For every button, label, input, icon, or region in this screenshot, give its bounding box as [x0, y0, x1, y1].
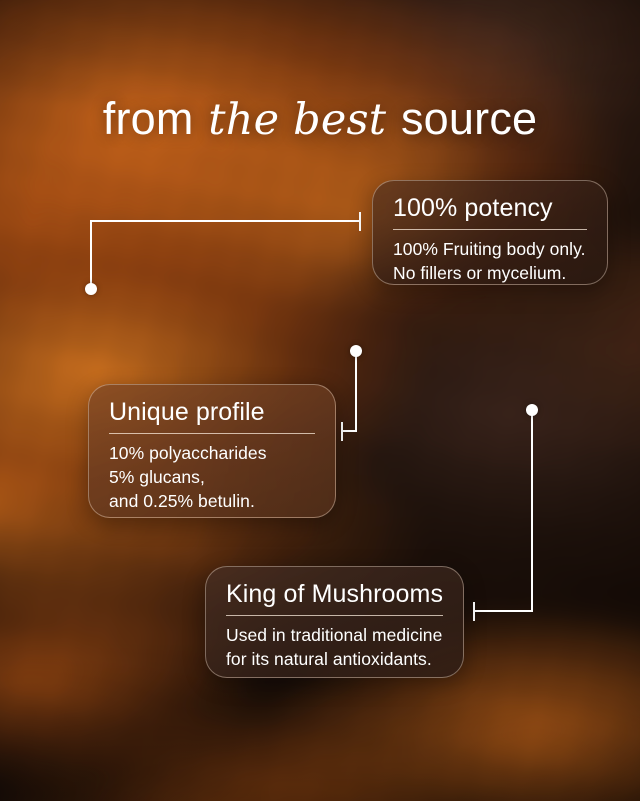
connector-vertical-segment: [355, 356, 357, 432]
connector-horizontal-segment: [90, 220, 360, 222]
card-divider: [393, 229, 587, 230]
connector-endpoint-dot: [85, 283, 97, 295]
info-card-potency: 100% potency 100% Fruiting body only. No…: [372, 180, 608, 285]
info-card-line: and 0.25% betulin.: [109, 490, 315, 514]
heading-part-before: from: [103, 93, 207, 144]
connector-horizontal-segment: [341, 430, 357, 432]
info-card-line: 5% glucans,: [109, 466, 315, 490]
info-card-line: for its natural antioxidants.: [226, 648, 443, 672]
connector-end-tick: [359, 212, 361, 231]
connector-endpoint-dot: [350, 345, 362, 357]
info-card-title: King of Mushrooms: [226, 581, 443, 608]
connector-horizontal-segment: [473, 610, 533, 612]
connector-end-tick: [473, 602, 475, 621]
info-card-profile: Unique profile 10% polyaccharides 5% glu…: [88, 384, 336, 518]
connector-endpoint-dot: [526, 404, 538, 416]
info-card-line: 10% polyaccharides: [109, 442, 315, 466]
connector-vertical-segment: [90, 220, 92, 286]
card-divider: [109, 433, 315, 434]
promo-graphic: from the best source 100% potency 100% F…: [0, 0, 640, 801]
page-title: from the best source: [0, 93, 640, 145]
info-card-king: King of Mushrooms Used in traditional me…: [205, 566, 464, 678]
card-divider: [226, 615, 443, 616]
info-card-line: 100% Fruiting body only.: [393, 238, 587, 262]
info-card-line: Used in traditional medicine: [226, 624, 443, 648]
connector-vertical-segment: [531, 412, 533, 612]
connector-end-tick: [341, 422, 343, 441]
info-card-line: No fillers or mycelium.: [393, 262, 587, 286]
heading-part-after: source: [388, 93, 537, 144]
heading-emphasis: the best: [206, 95, 388, 145]
info-card-title: Unique profile: [109, 399, 315, 426]
info-card-title: 100% potency: [393, 195, 587, 222]
